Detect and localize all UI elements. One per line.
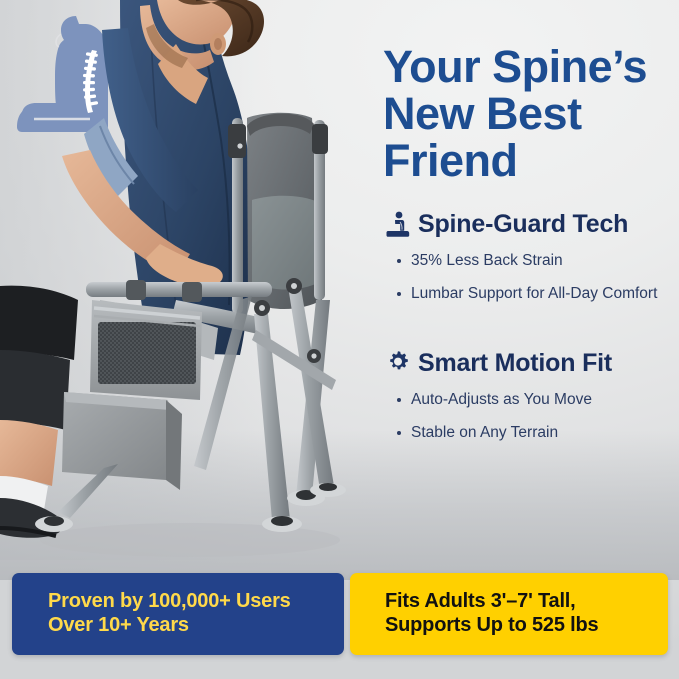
feature-spine-guard-tech: Spine-Guard Tech 35% Less Back Strain Lu… bbox=[383, 210, 673, 305]
capacity-banner: Fits Adults 3'–7' Tall, Supports Up to 5… bbox=[350, 573, 668, 655]
man-seated-in-folding-camp-chair-photo bbox=[0, 0, 375, 565]
feature-heading: Spine-Guard Tech bbox=[385, 210, 673, 239]
list-item: Auto-Adjusts as You Move bbox=[397, 390, 673, 411]
feature-bullet-list: Auto-Adjusts as You Move Stable on Any T… bbox=[383, 390, 673, 444]
feature-title: Spine-Guard Tech bbox=[418, 210, 628, 239]
gear-icon bbox=[385, 350, 411, 378]
proven-banner: Proven by 100,000+ Users Over 10+ Years bbox=[12, 573, 344, 655]
product-infographic: Your Spine’s New Best Friend Spine-Guard… bbox=[0, 0, 679, 679]
page-title: Your Spine’s New Best Friend bbox=[383, 44, 673, 184]
list-item: Stable on Any Terrain bbox=[397, 423, 673, 444]
proven-banner-text: Proven by 100,000+ Users Over 10+ Years bbox=[48, 590, 291, 637]
seated-posture-icon bbox=[385, 211, 411, 239]
feature-title: Smart Motion Fit bbox=[418, 349, 612, 378]
feature-heading: Smart Motion Fit bbox=[385, 349, 673, 378]
capacity-banner-text: Fits Adults 3'–7' Tall, Supports Up to 5… bbox=[385, 590, 598, 637]
list-item: Lumbar Support for All-Day Comfort bbox=[397, 284, 673, 305]
list-item: 35% Less Back Strain bbox=[397, 251, 673, 272]
feature-bullet-list: 35% Less Back Strain Lumbar Support for … bbox=[383, 251, 673, 305]
feature-smart-motion-fit: Smart Motion Fit Auto-Adjusts as You Mov… bbox=[383, 349, 673, 444]
copy-column: Your Spine’s New Best Friend Spine-Guard… bbox=[383, 44, 673, 456]
